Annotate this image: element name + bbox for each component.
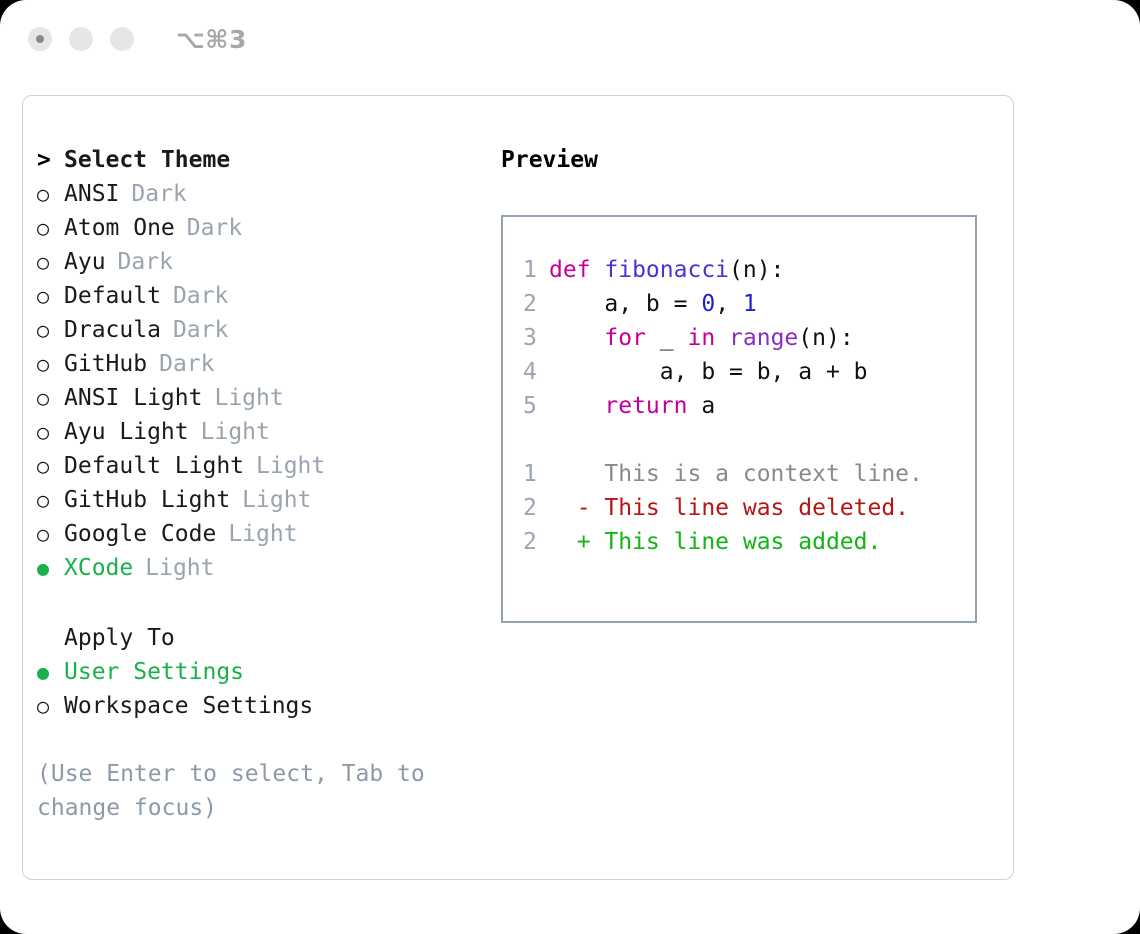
line-number: 4	[523, 355, 549, 389]
radio-selected-icon: ●	[37, 551, 64, 585]
line-number: 2	[523, 491, 549, 525]
line-number: 2	[523, 287, 549, 321]
code-token-fn: fibonacci	[604, 257, 729, 283]
theme-option-ansi[interactable]: ○ANSIDark	[37, 177, 497, 211]
radio-unselected-icon: ○	[37, 689, 64, 723]
code-token-pl: _	[646, 325, 688, 351]
radio-unselected-icon: ○	[37, 245, 64, 279]
window-dot-second[interactable]	[69, 27, 93, 51]
theme-option-google-code[interactable]: ○Google CodeLight	[37, 517, 497, 551]
diff-sign	[549, 461, 604, 487]
theme-option-label: Ayu	[64, 245, 106, 279]
diff-text: This line was deleted.	[604, 495, 909, 521]
theme-variant-badge: Dark	[131, 177, 186, 211]
code-token-pl: a	[687, 393, 715, 419]
code-token-pl	[549, 393, 604, 419]
theme-option-label: Ayu Light	[64, 415, 189, 449]
theme-option-label: ANSI Light	[64, 381, 202, 415]
select-theme-header: > Select Theme	[37, 143, 497, 177]
theme-list: ○ANSIDark○Atom OneDark○AyuDark○DefaultDa…	[37, 177, 497, 585]
diff-line-del: 2 - This line was deleted.	[523, 491, 975, 525]
theme-option-ayu-light[interactable]: ○Ayu LightLight	[37, 415, 497, 449]
code-diff-spacer	[523, 423, 975, 457]
code-token-pl: (n):	[729, 257, 784, 283]
prompt-caret-icon: >	[37, 143, 64, 177]
code-token-pl	[549, 325, 604, 351]
theme-variant-badge: Dark	[118, 245, 173, 279]
line-number: 1	[523, 253, 549, 287]
window-dot-active-inner	[36, 35, 44, 43]
radio-unselected-icon: ○	[37, 177, 64, 211]
theme-option-label: Atom One	[64, 211, 175, 245]
diff-text: This is a context line.	[604, 461, 923, 487]
line-number: 3	[523, 321, 549, 355]
code-token-pl: (n):	[798, 325, 853, 351]
apply-to-list: ●User Settings○Workspace Settings	[37, 655, 497, 723]
theme-variant-badge: Dark	[187, 211, 242, 245]
line-number: 2	[523, 525, 549, 559]
theme-option-label: Google Code	[64, 517, 216, 551]
radio-unselected-icon: ○	[37, 415, 64, 449]
title-bar: ⌥⌘3	[0, 0, 1140, 78]
code-token-num: 0	[701, 291, 715, 317]
code-token-num: 1	[743, 291, 757, 317]
theme-option-github[interactable]: ○GitHubDark	[37, 347, 497, 381]
diff-sample: 1 This is a context line.2 - This line w…	[523, 457, 975, 559]
radio-unselected-icon: ○	[37, 381, 64, 415]
code-line: 3 for _ in range(n):	[523, 321, 975, 355]
theme-picker-column: > Select Theme ○ANSIDark○Atom OneDark○Ay…	[37, 143, 497, 825]
code-line: 1def fibonacci(n):	[523, 253, 975, 287]
radio-unselected-icon: ○	[37, 279, 64, 313]
preview-box: 1def fibonacci(n):2 a, b = 0, 13 for _ i…	[501, 215, 977, 623]
theme-variant-badge: Dark	[173, 313, 228, 347]
radio-unselected-icon: ○	[37, 483, 64, 517]
theme-option-xcode[interactable]: ●XCodeLight	[37, 551, 497, 585]
app-window: ⌥⌘3 > Select Theme ○ANSIDark○Atom OneDar…	[0, 0, 1140, 934]
preview-title: Preview	[501, 143, 1001, 177]
radio-unselected-icon: ○	[37, 517, 64, 551]
theme-variant-badge: Dark	[173, 279, 228, 313]
theme-option-label: Default Light	[64, 449, 244, 483]
theme-option-label: ANSI	[64, 177, 119, 211]
code-sample: 1def fibonacci(n):2 a, b = 0, 13 for _ i…	[523, 253, 975, 423]
radio-unselected-icon: ○	[37, 211, 64, 245]
diff-sign: +	[549, 529, 604, 555]
select-theme-header-label: Select Theme	[64, 143, 230, 177]
apply-to-header: ○ Apply To	[37, 621, 497, 655]
theme-option-ansi-light[interactable]: ○ANSI LightLight	[37, 381, 497, 415]
main-panel: > Select Theme ○ANSIDark○Atom OneDark○Ay…	[22, 95, 1014, 880]
code-token-kw: for	[604, 325, 646, 351]
diff-line-ctx: 1 This is a context line.	[523, 457, 975, 491]
theme-variant-badge: Light	[201, 415, 270, 449]
theme-option-label: Dracula	[64, 313, 161, 347]
theme-variant-badge: Light	[214, 381, 283, 415]
keyboard-hint: (Use Enter to select, Tab to change focu…	[37, 757, 457, 825]
theme-option-default[interactable]: ○DefaultDark	[37, 279, 497, 313]
theme-option-dracula[interactable]: ○DraculaDark	[37, 313, 497, 347]
code-token-pl: a, b = b, a + b	[549, 359, 868, 385]
code-token-pl: a, b =	[549, 291, 701, 317]
apply-to-option-workspace-settings[interactable]: ○Workspace Settings	[37, 689, 497, 723]
theme-option-label: GitHub	[64, 347, 147, 381]
apply-to-option-user-settings[interactable]: ●User Settings	[37, 655, 497, 689]
code-token-kw: return	[604, 393, 687, 419]
apply-to-marker-spacer: ○	[37, 621, 64, 655]
theme-option-label: GitHub Light	[64, 483, 230, 517]
apply-to-option-label: User Settings	[64, 655, 244, 689]
theme-variant-badge: Light	[228, 517, 297, 551]
apply-to-header-label: Apply To	[64, 621, 175, 655]
code-line: 4 a, b = b, a + b	[523, 355, 975, 389]
radio-unselected-icon: ○	[37, 313, 64, 347]
diff-text: This line was added.	[604, 529, 881, 555]
theme-option-ayu[interactable]: ○AyuDark	[37, 245, 497, 279]
apply-to-option-label: Workspace Settings	[64, 689, 313, 723]
code-token-kw: in	[687, 325, 715, 351]
theme-variant-badge: Dark	[159, 347, 214, 381]
code-token-pl	[715, 325, 729, 351]
window-dot-active[interactable]	[28, 27, 52, 51]
window-dot-third[interactable]	[110, 27, 134, 51]
theme-option-github-light[interactable]: ○GitHub LightLight	[37, 483, 497, 517]
code-token-bi: range	[729, 325, 798, 351]
preview-column: Preview 1def fibonacci(n):2 a, b = 0, 13…	[501, 143, 1001, 623]
diff-line-add: 2 + This line was added.	[523, 525, 975, 559]
keyboard-shortcut-label: ⌥⌘3	[176, 25, 247, 54]
theme-variant-badge: Light	[145, 551, 214, 585]
diff-sign: -	[549, 495, 604, 521]
radio-unselected-icon: ○	[37, 347, 64, 381]
code-token-kw: def	[549, 257, 604, 283]
radio-selected-icon: ●	[37, 655, 64, 689]
section-spacer	[37, 585, 497, 621]
theme-option-label: Default	[64, 279, 161, 313]
code-line: 2 a, b = 0, 1	[523, 287, 975, 321]
code-token-pl: ,	[715, 291, 743, 317]
theme-variant-badge: Light	[242, 483, 311, 517]
code-line: 5 return a	[523, 389, 975, 423]
theme-option-default-light[interactable]: ○Default LightLight	[37, 449, 497, 483]
line-number: 1	[523, 457, 549, 491]
theme-option-label: XCode	[64, 551, 133, 585]
line-number: 5	[523, 389, 549, 423]
radio-unselected-icon: ○	[37, 449, 64, 483]
theme-variant-badge: Light	[256, 449, 325, 483]
theme-option-atom-one[interactable]: ○Atom OneDark	[37, 211, 497, 245]
